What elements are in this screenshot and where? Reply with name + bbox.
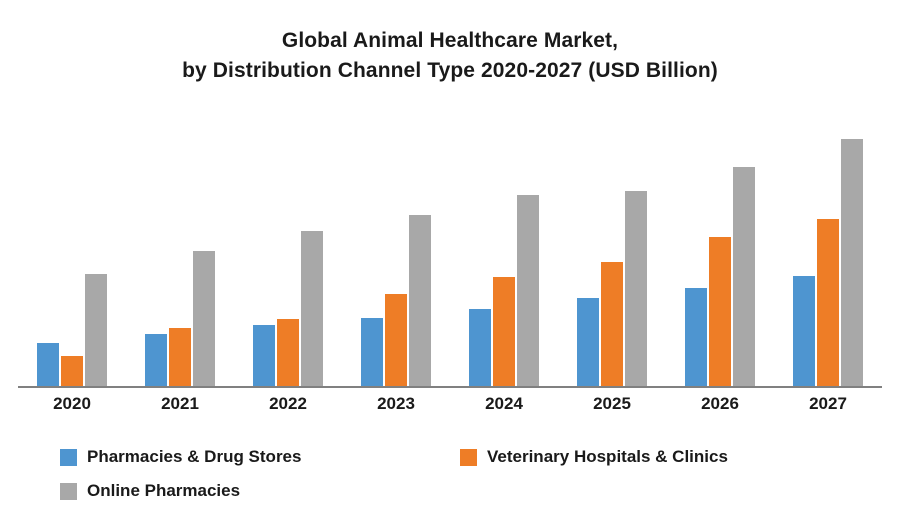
bar[interactable]: [493, 277, 515, 386]
bar[interactable]: [85, 274, 107, 386]
bar[interactable]: [469, 309, 491, 386]
bar[interactable]: [301, 231, 323, 386]
chart-title-line-2: by Distribution Channel Type 2020-2027 (…: [0, 56, 900, 86]
bar-group: [558, 118, 666, 386]
bar[interactable]: [61, 356, 83, 386]
bar[interactable]: [193, 251, 215, 386]
legend-label: Online Pharmacies: [87, 481, 240, 501]
bar[interactable]: [361, 318, 383, 386]
bar[interactable]: [841, 139, 863, 386]
chart-legend: Pharmacies & Drug Stores Veterinary Hosp…: [60, 440, 860, 508]
legend-label: Pharmacies & Drug Stores: [87, 447, 301, 467]
bar-group: [342, 118, 450, 386]
bar-group: [774, 118, 882, 386]
chart-title-line-1: Global Animal Healthcare Market,: [0, 26, 900, 56]
bar-group: [666, 118, 774, 386]
legend-row-2: Online Pharmacies: [60, 474, 860, 508]
x-axis-tick-label: 2022: [234, 394, 342, 414]
bar[interactable]: [385, 294, 407, 386]
x-axis-tick-labels: 20202021202220232024202520262027: [18, 394, 882, 420]
bar[interactable]: [517, 195, 539, 386]
x-axis-tick-label: 2023: [342, 394, 450, 414]
x-axis-tick-label: 2027: [774, 394, 882, 414]
bar-group: [450, 118, 558, 386]
chart-container: Global Animal Healthcare Market, by Dist…: [0, 0, 900, 525]
legend-label: Veterinary Hospitals & Clinics: [487, 447, 728, 467]
chart-title: Global Animal Healthcare Market, by Dist…: [0, 26, 900, 86]
bar[interactable]: [685, 288, 707, 386]
bar-group: [18, 118, 126, 386]
bar[interactable]: [709, 237, 731, 386]
legend-swatch-icon: [60, 449, 77, 466]
bar[interactable]: [169, 328, 191, 386]
bar[interactable]: [277, 319, 299, 386]
bar-group: [126, 118, 234, 386]
x-axis-line: [18, 386, 882, 388]
bar[interactable]: [577, 298, 599, 386]
plot-area: [18, 118, 882, 386]
bar-group: [234, 118, 342, 386]
legend-swatch-icon: [460, 449, 477, 466]
x-axis-tick-label: 2025: [558, 394, 666, 414]
legend-row-1: Pharmacies & Drug Stores Veterinary Hosp…: [60, 440, 860, 474]
bar[interactable]: [733, 167, 755, 386]
bar[interactable]: [817, 219, 839, 386]
bar[interactable]: [793, 276, 815, 386]
legend-item-online-pharmacies[interactable]: Online Pharmacies: [60, 474, 460, 508]
bar[interactable]: [601, 262, 623, 386]
bar[interactable]: [37, 343, 59, 386]
bar[interactable]: [253, 325, 275, 386]
x-axis-tick-label: 2024: [450, 394, 558, 414]
legend-item-pharmacies-drug-stores[interactable]: Pharmacies & Drug Stores: [60, 440, 460, 474]
x-axis-tick-label: 2026: [666, 394, 774, 414]
x-axis-tick-label: 2021: [126, 394, 234, 414]
bar[interactable]: [625, 191, 647, 386]
legend-swatch-icon: [60, 483, 77, 500]
bar[interactable]: [145, 334, 167, 386]
x-axis-tick-label: 2020: [18, 394, 126, 414]
legend-item-veterinary-hospitals-clinics[interactable]: Veterinary Hospitals & Clinics: [460, 440, 860, 474]
bar[interactable]: [409, 215, 431, 386]
